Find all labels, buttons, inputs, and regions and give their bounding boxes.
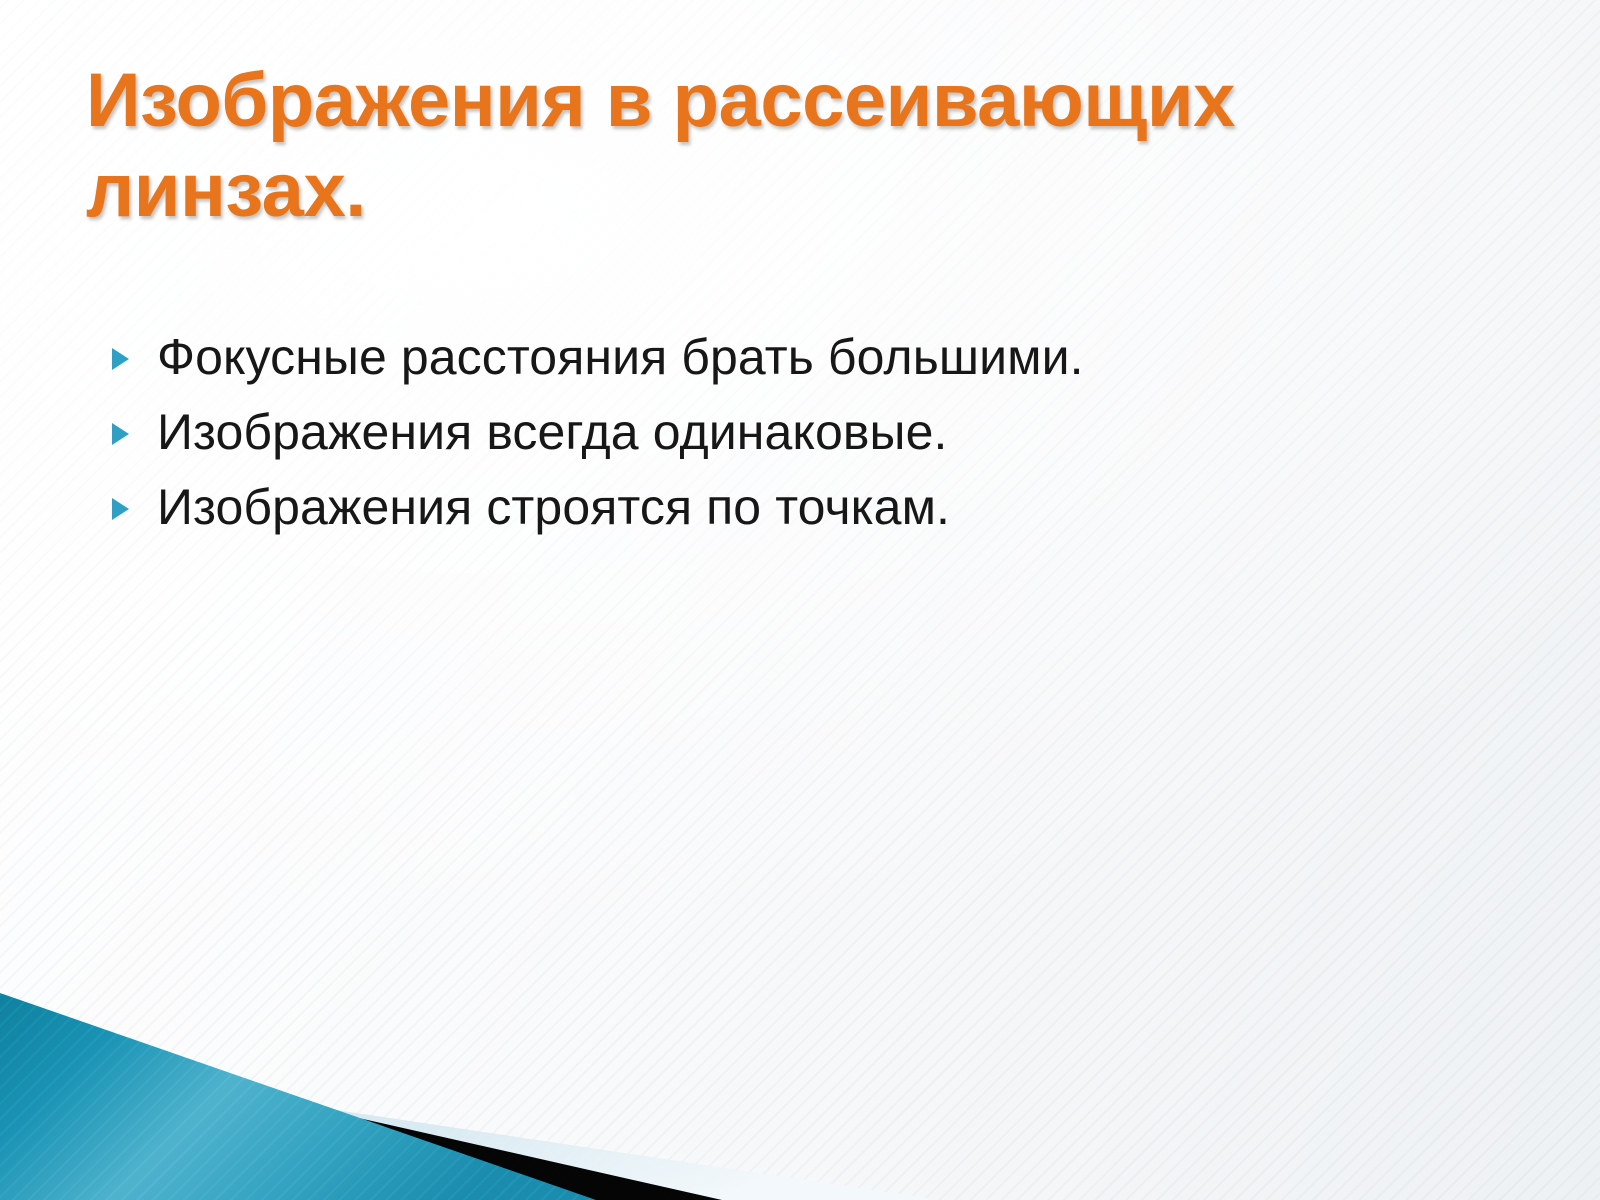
presentation-slide: Изображения в рассеивающих линзах. Фокус… xyxy=(0,0,1600,1200)
list-item-label: Фокусные расстояния брать большими. xyxy=(157,331,1084,384)
slide-title: Изображения в рассеивающих линзах. xyxy=(86,56,1406,235)
list-item-label: Изображения строятся по точкам. xyxy=(157,481,950,534)
list-item[interactable]: Изображения строятся по точкам. xyxy=(112,481,1442,534)
list-item-label: Изображения всегда одинаковые. xyxy=(157,406,947,459)
title-placeholder[interactable]: Изображения в рассеивающих линзах. xyxy=(86,56,1406,235)
bullet-list: Фокусные расстояния брать большими. Изоб… xyxy=(112,331,1442,534)
triangle-right-icon xyxy=(112,498,129,520)
triangle-right-icon xyxy=(112,348,129,370)
list-item[interactable]: Изображения всегда одинаковые. xyxy=(112,406,1442,459)
triangle-right-icon xyxy=(112,423,129,445)
list-item[interactable]: Фокусные расстояния брать большими. xyxy=(112,331,1442,384)
content-placeholder[interactable]: Фокусные расстояния брать большими. Изоб… xyxy=(112,331,1442,556)
